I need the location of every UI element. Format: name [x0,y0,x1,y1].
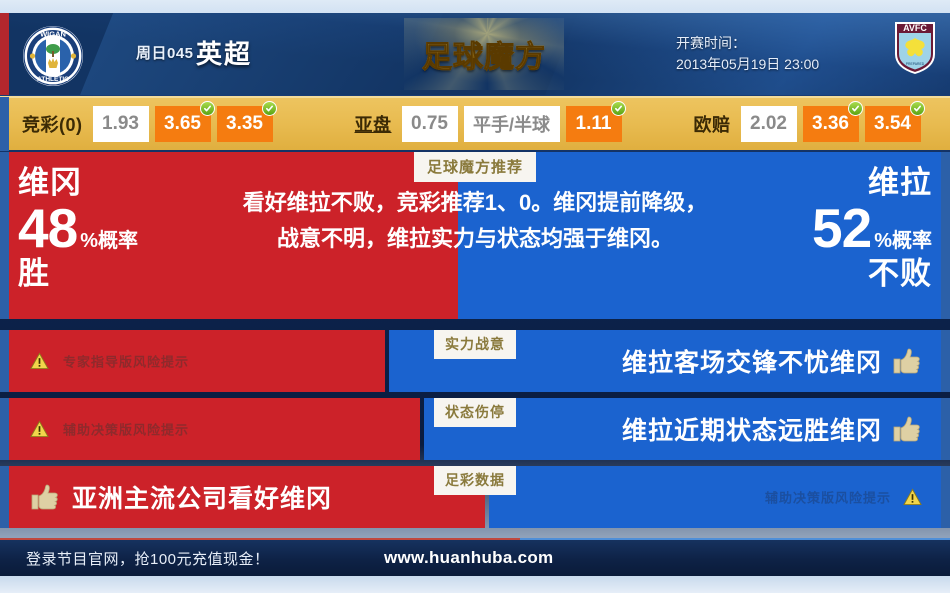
odds-group-asian-handicap: 亚盘 0.75 平手/半球 1.11 [355,106,628,142]
row-risk-text: 辅助决策版风险提示 [765,488,891,507]
away-team-name: 维拉 [722,164,932,201]
row-tag-betting-data: 足彩数据 [434,466,516,495]
row-risk-text: 辅助决策版风险提示 [63,420,189,439]
kickoff-label: 开赛时间： [676,33,819,54]
svg-text:ATHLETIC: ATHLETIC [37,76,69,83]
odds-cell[interactable]: 1.11 [566,106,622,142]
home-percent-unit: %概率 [80,231,138,251]
kickoff-info: 开赛时间： 2013年05月19日 23:00 [676,33,819,75]
odds-bar-left-accent [0,97,9,151]
prediction-text: 看好维拉不败，竞彩推荐1、0。维冈提前降级，战意不明，维拉实力与状态均强于维冈。 [234,185,716,257]
footer-promo-text: 登录节目官网，抢100元充值现金！ [26,548,270,569]
row-tag-strength: 实力战意 [434,330,516,359]
broadcast-overlay: WIGAN ATHLETIC AVFC PREPARED 周日045 英超 足球… [0,0,950,593]
program-logo-text: 足球魔方 [422,32,546,76]
prediction-tag: 足球魔方推荐 [414,152,536,182]
check-badge-icon [262,101,277,116]
row-statement-text: 维拉近期状态远胜维冈 [622,411,882,447]
svg-text:PREPARED: PREPARED [906,62,925,66]
odds-cell[interactable]: 3.36 [803,106,859,142]
odds-group-european: 欧赔 2.02 3.36 3.54 [694,106,927,142]
home-probability: 维冈 48 %概率 胜 [18,164,218,292]
away-probability: 维拉 52 %概率 不败 [722,164,932,292]
insight-row-form: 状态伤停 辅助决策版风险提示 维拉近期状态远胜维冈 [0,398,950,460]
footer-accent-right [520,538,950,540]
home-percent-row: 48 %概率 [18,201,218,256]
check-badge-icon [200,101,215,116]
odds-cell[interactable]: 3.54 [865,106,921,142]
thumbs-up-icon [892,415,922,443]
footer-accent-left [0,538,520,540]
away-team-crest: AVFC PREPARED [893,20,937,76]
odds-cell-value: 3.35 [226,113,263,135]
insight-row-betting-data: 足彩数据 亚洲主流公司看好维冈 辅助决策版风险提示 [0,466,950,528]
row-statement-text: 亚洲主流公司看好维冈 [72,479,332,515]
away-percent-value: 52 [812,201,871,256]
row-left-accent [0,398,9,460]
aston-villa-crest-icon: AVFC PREPARED [893,20,937,76]
footer-bar: 登录节目官网，抢100元充值现金！ www.huanhuba.com [0,538,950,576]
odds-cell[interactable]: 2.02 [741,106,797,142]
thumbs-up-icon [30,483,60,511]
row-statement-strength: 维拉客场交锋不忧维冈 [622,343,922,379]
row-statement-betting-data: 亚洲主流公司看好维冈 [30,479,332,515]
row-right-accent [941,330,950,392]
thumbs-up-icon [892,347,922,375]
odds-group-jingcai: 竞彩(0) 1.93 3.65 3.35 [22,106,279,142]
odds-cell-value: 3.54 [874,113,911,135]
panel-right-accent [941,152,950,319]
warning-triangle-icon [903,489,922,506]
league-name: 英超 [196,34,252,71]
odds-cell[interactable]: 1.93 [93,106,149,142]
odds-cell-handicap[interactable]: 平手/半球 [464,106,560,142]
odds-cell-value: 3.65 [164,113,201,135]
footer-website-url[interactable]: www.huanhuba.com [384,548,553,568]
row-statement-form: 维拉近期状态远胜维冈 [622,411,922,447]
check-badge-icon [848,101,863,116]
odds-bar: 竞彩(0) 1.93 3.65 3.35 亚盘 0.75 平手/半球 1.11 [0,96,950,150]
row-risk-note-left: 专家指导版风险提示 [30,352,189,371]
odds-cell-value: 3.36 [812,113,849,135]
row-left-accent [0,466,9,528]
row-risk-note-right: 辅助决策版风险提示 [765,488,922,507]
odds-cell[interactable]: 3.65 [155,106,211,142]
probability-panel: 维冈 48 %概率 胜 维拉 52 %概率 不败 足球魔方推荐 看好维拉不败，竞… [0,152,950,319]
warning-triangle-icon [30,353,49,370]
kickoff-time: 2013年05月19日 23:00 [676,54,819,75]
check-badge-icon [910,101,925,116]
away-outcome: 不败 [722,256,932,292]
row-right-accent [941,466,950,528]
odds-cell[interactable]: 3.35 [217,106,273,142]
row-tag-form: 状态伤停 [434,398,516,427]
row-risk-text: 专家指导版风险提示 [63,352,189,371]
home-team-crest: WIGAN ATHLETIC [22,25,84,87]
row-left-accent [0,330,9,392]
away-percent-row: 52 %概率 [722,201,932,256]
header-red-accent [0,13,9,95]
panel-left-accent [0,152,9,319]
home-team-name: 维冈 [18,164,218,201]
header-diagonal-left [65,13,456,95]
svg-text:WIGAN: WIGAN [40,30,66,39]
odds-cell[interactable]: 0.75 [402,106,458,142]
program-logo: 足球魔方 [404,24,564,84]
away-percent-unit: %概率 [874,231,932,251]
row-right-accent [941,398,950,460]
check-badge-icon [611,101,626,116]
warning-triangle-icon [30,421,49,438]
odds-group-title: 竞彩(0) [22,111,83,137]
row-risk-note-left: 辅助决策版风险提示 [30,420,189,439]
match-number-label: 周日045 [136,42,194,63]
odds-cell-value: 1.11 [576,113,612,135]
wigan-athletic-crest-icon: WIGAN ATHLETIC [22,25,84,87]
odds-group-title: 欧赔 [694,111,731,137]
row-statement-text: 维拉客场交锋不忧维冈 [622,343,882,379]
svg-text:AVFC: AVFC [903,23,927,33]
odds-group-title: 亚盘 [355,111,392,137]
home-outcome: 胜 [18,256,218,292]
home-percent-value: 48 [18,201,77,256]
insight-row-strength: 实力战意 专家指导版风险提示 维拉客场交锋不忧维冈 [0,330,950,392]
